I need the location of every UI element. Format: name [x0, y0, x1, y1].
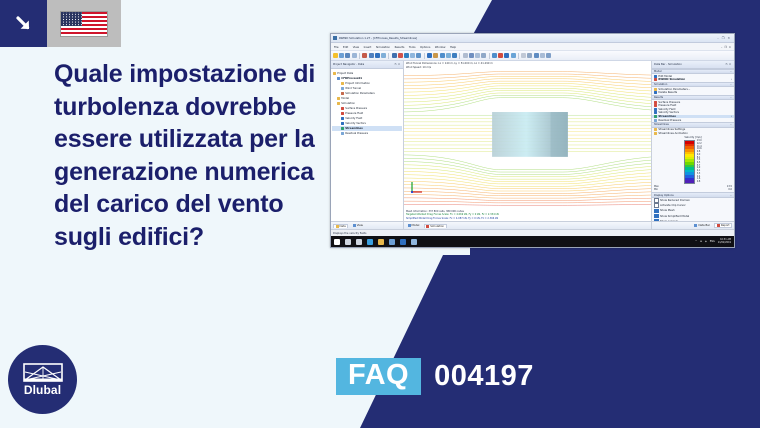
page-title: Quale impostazione di turbolenza dovrebb…	[54, 58, 316, 253]
data-bar-header: Data Bar - Simulation ⇱✕	[652, 61, 734, 69]
chevron-down-icon[interactable]: ⌄	[730, 83, 732, 86]
viewport-tab-model[interactable]: Model	[406, 224, 421, 227]
pin-close-icon[interactable]: ⇱✕	[726, 63, 732, 66]
toolbar-button-4-3[interactable]	[481, 53, 486, 58]
data-bar-section-label: Streamlines	[654, 123, 669, 126]
toolbar-button-5-3[interactable]	[511, 53, 516, 58]
tree-item-icon	[341, 122, 344, 125]
report-icon	[717, 224, 720, 227]
model-icon	[408, 224, 411, 227]
data-bar-item-label: Residual Pressure	[658, 119, 681, 122]
streamline	[404, 164, 651, 176]
maximize-icon[interactable]: ❐	[722, 36, 725, 40]
viewport-panel: Wind Tunnel Dimensions: Lx = 140 m, Ly =…	[404, 61, 651, 229]
menu-bar[interactable]: File Edit View Insert Simulation Results…	[331, 43, 734, 51]
data-bar-tab-strip[interactable]: Data Bar Report	[652, 221, 734, 229]
velocity-legend-colorbar	[684, 140, 695, 184]
tree-item-icon	[337, 97, 340, 100]
tree-item-label: Wind Tunnel	[345, 87, 361, 90]
tree-item-icon	[333, 72, 336, 75]
cfd-canvas[interactable]	[404, 70, 651, 210]
checkbox-icon[interactable]	[654, 209, 659, 214]
dlubal-truss-icon	[23, 363, 63, 382]
display-option-label: Show Reduced Domain	[660, 199, 690, 202]
rwind-icon[interactable]	[400, 239, 406, 245]
data-bar-item-note: ›	[731, 115, 732, 118]
toolbar-button-3-4[interactable]	[452, 53, 457, 58]
toolbar-button-5-2[interactable]	[504, 53, 509, 58]
toolbar-button-4-0[interactable]	[463, 53, 468, 58]
streamline	[404, 92, 651, 104]
tree-item-label: Streamlines	[345, 127, 363, 130]
folder-icon[interactable]	[378, 239, 384, 245]
data-bar-tab-databar[interactable]: Data Bar	[693, 224, 711, 227]
tray-volume-icon[interactable]: ◈	[705, 240, 707, 243]
toolbar-button-3-1[interactable]	[433, 53, 438, 58]
arrow-down-right-icon[interactable]	[0, 0, 47, 47]
data-bar-item-icon	[654, 101, 657, 104]
tree-item-icon	[341, 127, 344, 130]
velocity-legend-values: 13.012.211.410.69.89.08.17.36.55.74.94.1…	[697, 140, 702, 184]
data-bar-section-label: Model	[654, 70, 662, 73]
toolbar-button-3-2[interactable]	[440, 53, 445, 58]
toolbar-button-2-0[interactable]	[392, 53, 397, 58]
tree-item-label: Residual Pressure	[345, 132, 368, 135]
data-bar-item-icon	[654, 104, 657, 107]
system-tray[interactable]: ^ ⛁ ◈ ENG 10:31 AM 11/02/2019	[695, 239, 731, 245]
toolbar-button-6-0[interactable]	[521, 53, 526, 58]
streamline	[404, 78, 651, 85]
tray-network-icon[interactable]: ⛁	[700, 240, 702, 243]
flag-usa-glyph	[60, 11, 108, 37]
legend-min-value: 0.0	[728, 188, 732, 191]
menu-item-results[interactable]: Results	[395, 45, 405, 49]
display-option-label: Show Mesh	[660, 209, 675, 212]
chevron-down-icon[interactable]: ⌄	[730, 123, 732, 126]
tree-item-label: Simulation Parameters	[345, 92, 375, 95]
windows-taskbar[interactable]: ^ ⛁ ◈ ENG 10:31 AM 11/02/2019	[331, 236, 734, 247]
data-bar-item-icon	[654, 78, 657, 81]
data-bar-sections[interactable]: Model⌄Edit ModelRWIND Simulation›Simulat…	[652, 69, 734, 222]
menu-item-view[interactable]: View	[353, 45, 359, 49]
tree-item-icon	[341, 112, 344, 115]
checkbox-icon[interactable]	[654, 198, 659, 203]
search-icon[interactable]	[345, 239, 351, 245]
tree-item-label: CFDProcess01	[341, 77, 362, 80]
streamline	[404, 184, 651, 190]
toolbar-button-5-0[interactable]	[492, 53, 497, 58]
toolbar-button-6-4[interactable]	[546, 53, 551, 58]
data-bar-item-icon	[654, 115, 657, 118]
toolbar-button-4-1[interactable]	[469, 53, 474, 58]
data-bar-section-label: Results	[654, 96, 663, 99]
data-bar-panel: Data Bar - Simulation ⇱✕ Model⌄Edit Mode…	[651, 61, 734, 229]
viewport-tab-strip[interactable]: Model Simulation	[404, 221, 651, 229]
faq-number: 004197	[434, 362, 534, 391]
data-bar-item-icon	[654, 108, 657, 111]
pin-close-icon[interactable]: ⇱✕	[395, 63, 401, 66]
tree-item-icon	[341, 92, 344, 95]
legend-min-label: Min	[654, 188, 658, 191]
chevron-down-icon[interactable]: ⌄	[730, 194, 732, 197]
status-bar: Displays the velocity fields	[331, 229, 734, 236]
chevron-down-icon[interactable]: ⌄	[730, 70, 732, 73]
mdi-window-controls[interactable]: – ❐ ✕	[721, 45, 731, 49]
toolbar-button-6-3[interactable]	[540, 53, 545, 58]
data-bar-item-icon	[654, 128, 657, 131]
data-bar-section-label: Simulation	[654, 83, 667, 86]
tray-language-icon[interactable]: ENG	[710, 240, 715, 243]
viewport-tab-simulation[interactable]: Simulation	[424, 224, 447, 228]
navigator-tab-view[interactable]: View	[351, 224, 364, 227]
mdi-close-icon[interactable]: ✕	[729, 45, 731, 49]
simplified-drag-line: Simplified Model Drag Forces Scale: Fx =…	[406, 217, 649, 220]
streamline	[404, 90, 651, 101]
toolbar-button-2-4[interactable]	[416, 53, 421, 58]
rwind-application-screenshot: RWIND Simulation 1.27 - [CFProcess_Resul…	[330, 33, 735, 248]
tree-item-label: Model	[341, 97, 349, 100]
dlubal-logo[interactable]: Dlubal	[8, 345, 77, 414]
toolbar-button-1-2[interactable]	[375, 53, 380, 58]
legend-min-row: Min0.0	[654, 188, 732, 191]
data-bar-item-icon	[654, 119, 657, 122]
data-bar-tab-report[interactable]: Report	[714, 223, 732, 228]
viewport-info: Wind Tunnel Dimensions: Lx = 140 m, Ly =…	[404, 61, 651, 70]
chevron-down-icon[interactable]: ⌄	[730, 96, 732, 99]
toolbar-button-4-2[interactable]	[475, 53, 480, 58]
window-title: RWIND Simulation 1.27 - [CFProcess_Resul…	[339, 36, 417, 40]
toolbar-button-1-0[interactable]	[362, 53, 367, 58]
toolbar-button-0-3[interactable]	[352, 53, 357, 58]
tree-item-label: Pressure Field	[345, 112, 363, 115]
faq-badge: FAQ	[336, 358, 421, 395]
tree-item-label: Surface Pressure	[345, 107, 367, 110]
tree-item-icon	[341, 87, 344, 90]
dlubal-logo-text: Dlubal	[24, 384, 61, 396]
display-options-label: Display Options	[654, 194, 674, 197]
toolbar-separator	[459, 53, 460, 59]
data-bar-item-icon	[654, 88, 657, 91]
poster-canvas: Quale impostazione di turbolenza dovrebb…	[0, 0, 760, 428]
taskbar-clock[interactable]: 10:31 AM 11/02/2019	[718, 239, 731, 245]
status-bar-text: Displays the velocity fields	[333, 232, 366, 235]
toolbar-button-1-1[interactable]	[369, 53, 374, 58]
tree-item-icon	[341, 132, 344, 135]
streamline	[404, 201, 651, 203]
toolbar[interactable]	[331, 51, 734, 61]
velocity-legend-body: 13.012.211.410.69.89.08.17.36.55.74.94.1…	[684, 140, 701, 184]
toolbar-button-2-1[interactable]	[398, 53, 403, 58]
rwind-app-icon	[333, 36, 337, 40]
data-bar-item-icon	[654, 75, 657, 78]
tree-item-icon	[341, 82, 344, 85]
app-icon[interactable]	[389, 239, 395, 245]
menu-item-options[interactable]: Options	[420, 45, 430, 49]
toolbar-separator	[489, 53, 490, 59]
tree-item-icon	[341, 117, 344, 120]
tree-item-label: Velocity Field	[345, 117, 362, 120]
minimize-icon[interactable]: –	[717, 36, 719, 40]
toolbar-button-0-2[interactable]	[345, 53, 350, 58]
project-tree[interactable]: Project DataCFDProcess01Project Informat…	[331, 69, 403, 221]
navigator-tab-data-label: Data	[340, 225, 346, 228]
project-navigator-header: Project Navigator - Data ⇱✕	[331, 61, 403, 69]
corner-icon-group	[0, 0, 121, 47]
menu-item-simulation[interactable]: Simulation	[376, 45, 390, 49]
mdi-restore-icon[interactable]: ❐	[724, 45, 726, 49]
toolbar-separator	[424, 53, 425, 59]
streamline	[404, 71, 651, 75]
tree-item-icon	[337, 102, 340, 105]
mdi-minimize-icon[interactable]: –	[721, 45, 722, 49]
window-title-bar: RWIND Simulation 1.27 - [CFProcess_Resul…	[331, 34, 734, 43]
display-option-label: Activate Clip Cursor	[660, 204, 686, 207]
menu-item-help[interactable]: Help	[450, 45, 456, 49]
toolbar-button-0-1[interactable]	[339, 53, 344, 58]
menu-item-tools[interactable]: Tools	[409, 45, 416, 49]
data-bar-item-icon	[654, 132, 657, 135]
tree-item-icon	[341, 107, 344, 110]
viewport-tab-simulation-label: Simulation	[430, 225, 444, 228]
tree-item-icon	[337, 77, 340, 80]
toolbar-button-3-0[interactable]	[427, 53, 432, 58]
velocity-legend: Velocity [m/s]13.012.211.410.69.89.08.17…	[652, 135, 734, 192]
streamline-plot	[404, 70, 651, 210]
data-bar-item-label: Pressure Field	[658, 104, 676, 107]
browser-icon[interactable]	[367, 239, 373, 245]
task-view-icon[interactable]	[356, 239, 362, 245]
start-icon[interactable]	[334, 239, 340, 245]
tree-item-label: Velocity Vectors	[345, 122, 366, 125]
navigator-tab-strip[interactable]: Data View	[331, 221, 403, 229]
tree-item[interactable]: Residual Pressure	[332, 131, 402, 136]
axis-indicator-icon	[410, 180, 424, 194]
taskbar-date: 11/02/2019	[718, 241, 731, 244]
data-bar-icon	[694, 224, 697, 227]
legend-value: 0.8	[697, 181, 702, 184]
toolbar-separator	[359, 53, 360, 59]
data-bar-item-label: RWIND Simulation	[658, 78, 685, 81]
data-bar-title: Data Bar - Simulation	[654, 63, 682, 66]
display-option-label: Show Simplified Model	[660, 215, 689, 218]
toolbar-separator	[518, 53, 519, 59]
toolbar-button-6-2[interactable]	[534, 53, 539, 58]
view-icon	[353, 224, 356, 227]
project-navigator-panel: Project Navigator - Data ⇱✕ Project Data…	[331, 61, 404, 229]
close-icon[interactable]: ✕	[727, 36, 730, 40]
network-icon[interactable]	[411, 239, 417, 245]
data-bar-item-note: ›	[731, 78, 732, 81]
menu-item-file[interactable]: File	[334, 45, 339, 49]
data-bar-item-label: Velocity Vectors	[658, 111, 679, 114]
toolbar-button-2-2[interactable]	[404, 53, 409, 58]
data-bar-item-label: Streamlines Settings	[658, 128, 685, 131]
tree-item-label: Project Data	[337, 72, 353, 75]
checkbox-icon[interactable]	[654, 203, 659, 208]
viewport-footer: Mesh Information: 337 800 cells, 389 090…	[404, 210, 651, 221]
data-bar-item-label: Streamlines	[658, 115, 676, 118]
toolbar-button-2-3[interactable]	[410, 53, 415, 58]
streamline	[404, 154, 651, 169]
tray-chevron-up-icon[interactable]: ^	[695, 240, 697, 243]
project-navigator-title: Project Navigator - Data	[333, 63, 364, 66]
toolbar-button-1-3[interactable]	[381, 53, 386, 58]
data-bar-item-label: Delete Results	[658, 91, 677, 94]
toolbar-button-5-1[interactable]	[498, 53, 503, 58]
data-bar-tab-databar-label: Data Bar	[698, 224, 709, 227]
checkbox-icon[interactable]	[654, 214, 659, 219]
velocity-legend-minmax: Max13.5Min0.0	[654, 185, 732, 191]
legend-swatch	[685, 180, 694, 183]
toolbar-button-0-0[interactable]	[333, 53, 338, 58]
window-controls[interactable]: – ❐ ✕	[717, 36, 732, 40]
menu-item-window[interactable]: Window	[435, 45, 446, 49]
data-icon	[336, 225, 339, 228]
streamline	[404, 161, 651, 174]
toolbar-button-6-1[interactable]	[527, 53, 532, 58]
streamline	[404, 194, 651, 198]
toolbar-button-3-3[interactable]	[446, 53, 451, 58]
tree-item-label: Project Information	[345, 82, 370, 85]
faq-footer: FAQ 004197	[336, 358, 534, 395]
viewport-tab-model-label: Model	[412, 224, 420, 227]
navigator-tab-data[interactable]: Data	[333, 224, 348, 228]
streamline	[404, 95, 651, 108]
data-bar-item-label: Streamlines Animation	[658, 132, 687, 135]
navigator-tab-view-label: View	[357, 224, 363, 227]
data-bar-item-icon	[654, 91, 657, 94]
data-bar-tab-report-label: Report	[721, 224, 730, 227]
application-body: Project Navigator - Data ⇱✕ Project Data…	[331, 61, 734, 229]
menu-item-edit[interactable]: Edit	[343, 45, 348, 49]
simulation-icon	[426, 225, 429, 228]
toolbar-separator	[388, 53, 389, 59]
menu-item-insert[interactable]: Insert	[364, 45, 372, 49]
tree-item-label: Simulation	[341, 102, 355, 105]
streamline	[404, 204, 651, 205]
flag-usa-icon[interactable]	[47, 0, 121, 47]
